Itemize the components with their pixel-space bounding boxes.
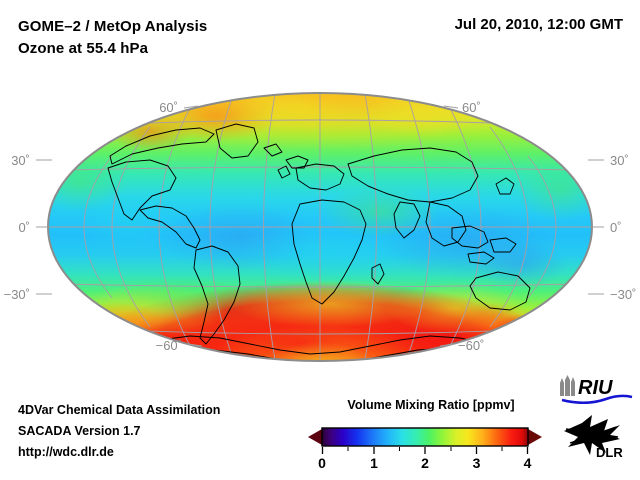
riu-logo: RIU (556, 374, 634, 404)
footer-line-2: SACADA Version 1.7 (18, 421, 220, 442)
footer-credits: 4DVar Chemical Data Assimilation SACADA … (18, 400, 220, 463)
logo-group: RIU DLR (556, 374, 636, 459)
title-product: Ozone at 55.4 hPa (18, 38, 207, 60)
lat-label-0-left: 0˚ (18, 220, 30, 235)
lat-label-30-left: 30˚ (11, 153, 30, 168)
lat-label-0-right: 0˚ (610, 220, 622, 235)
colorbar-tick-0: 0 (318, 455, 326, 471)
lat-label-60-left: 60˚ (159, 100, 178, 115)
lat-label-m60-left: −60˚ (156, 338, 182, 353)
dlr-logo: DLR (562, 413, 632, 459)
colorbar-tick-2: 2 (421, 455, 429, 471)
footer-line-3[interactable]: http://wdc.dlr.de (18, 442, 220, 463)
riu-tower-icon (560, 375, 575, 396)
lat-label-30-right: 30˚ (610, 153, 629, 168)
colorbar-gradient (322, 428, 528, 446)
figure-root: GOME–2 / MetOp Analysis Ozone at 55.4 hP… (0, 0, 640, 480)
colorbar-tick-1: 1 (370, 455, 378, 471)
title-instrument: GOME–2 / MetOp Analysis (18, 18, 207, 35)
colorbar-tick-4: 4 (524, 455, 532, 471)
world-map: 30˚ 0˚ −30˚ 30˚ 0˚ −30˚ 60˚ 60˚ −60˚ −60… (0, 72, 640, 382)
dlr-wordmark: DLR (596, 445, 623, 459)
riu-wordmark: RIU (578, 377, 613, 399)
colorbar-tick-labels: 0 1 2 3 4 (318, 455, 532, 471)
footer-line-1: 4DVar Chemical Data Assimilation (18, 400, 220, 421)
lat-label-60-right: 60˚ (462, 100, 481, 115)
figure-title: GOME–2 / MetOp Analysis Ozone at 55.4 hP… (18, 16, 207, 60)
lat-label-m60-right: −60˚ (458, 338, 484, 353)
colorbar-left-arrow (308, 429, 322, 445)
colorbar-ticks (323, 447, 528, 454)
lat-label-m30-left: −30˚ (4, 287, 30, 302)
colorbar-graphic: 0 1 2 3 4 (300, 416, 550, 472)
colorbar-right-arrow (528, 429, 542, 445)
colorbar-title: Volume Mixing Ratio [ppmv] (312, 398, 550, 412)
figure-datetime: Jul 20, 2010, 12:00 GMT (455, 16, 623, 33)
colorbar: Volume Mixing Ratio [ppmv] (300, 398, 550, 472)
colorbar-tick-3: 3 (473, 455, 481, 471)
lat-label-m30-right: −30˚ (610, 287, 636, 302)
